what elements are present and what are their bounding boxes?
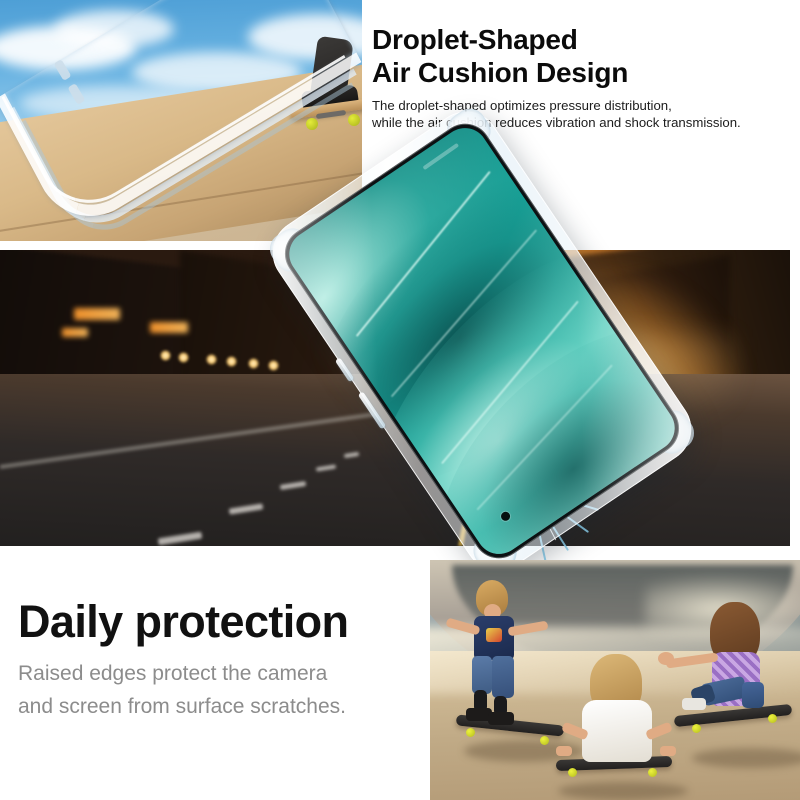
headline-subtitle-line1: The droplet-shaped optimizes pressure di… [372, 97, 792, 114]
skateboard-wheel [466, 728, 475, 737]
child-shorts-left [472, 656, 492, 694]
headline-title-line1: Droplet-Shaped [372, 24, 792, 57]
child-shoe [682, 698, 706, 710]
skateboard-wheel [768, 714, 777, 723]
skateboard-wheel [692, 724, 701, 733]
product-image-canvas: Droplet-Shaped Air Cushion Design The dr… [0, 0, 800, 800]
child-shoe-right [488, 712, 514, 725]
shirt-graphic [486, 628, 502, 642]
child-hand-right [660, 746, 676, 756]
bottom-subtitle-line1: Raised edges protect the camera [18, 659, 428, 689]
street-light [226, 356, 237, 367]
child-shirt [582, 700, 652, 762]
skateboard-wheel [568, 768, 577, 777]
headline-block: Droplet-Shaped Air Cushion Design The dr… [372, 24, 792, 131]
shop-sign-light [74, 308, 120, 320]
street-light [206, 354, 217, 365]
street-light [268, 360, 279, 371]
street-light [178, 352, 189, 363]
headline-title-line2: Air Cushion Design [372, 57, 792, 90]
bottom-subtitle-line2: and screen from surface scratches. [18, 692, 428, 722]
shop-sign-light [62, 328, 88, 337]
child-shorts-right [492, 656, 514, 698]
child-hand [658, 652, 674, 665]
panel-clear-case-skatepark [0, 0, 362, 241]
skateboard-wheel [540, 736, 549, 745]
child-shadow [558, 782, 688, 800]
shop-sign-light [150, 322, 188, 333]
bottom-title: Daily protection [18, 598, 428, 645]
bottom-text-block: Daily protection Raised edges protect th… [18, 598, 428, 722]
child-leg-back [742, 682, 764, 708]
clear-case-corner-closeup [0, 0, 362, 226]
panel-kids-skateboarding [430, 560, 800, 800]
child-hand-left [556, 746, 572, 756]
street-light [160, 350, 171, 361]
child-shadow [692, 748, 800, 768]
street-light [248, 358, 259, 369]
skateboard-wheel [648, 768, 657, 777]
